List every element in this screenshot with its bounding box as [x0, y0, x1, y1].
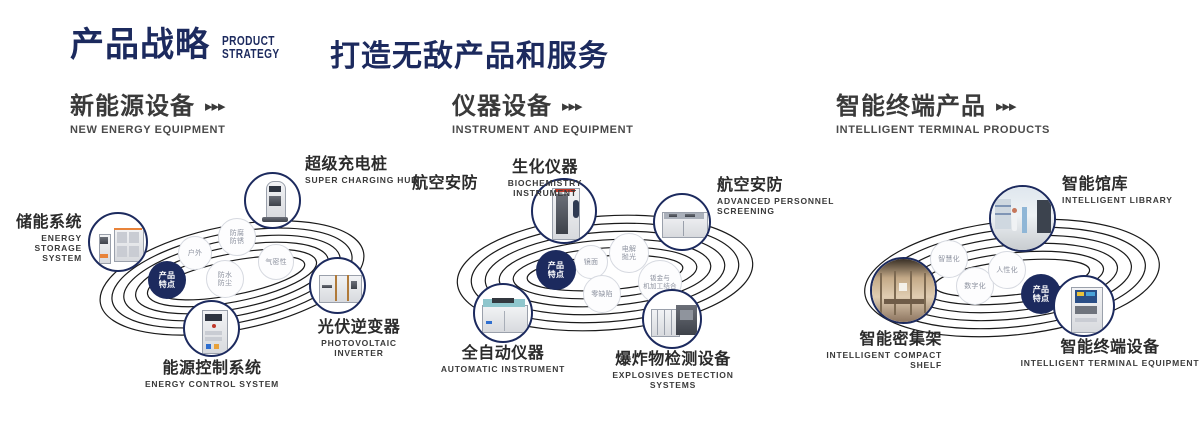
page-title: 产品战略	[70, 28, 210, 62]
feature-bubble-label: 人性化	[996, 266, 1018, 275]
node-intelligent-library[interactable]	[989, 185, 1056, 252]
label-en: INTELLIGENT TERMINAL EQUIPMENT	[1020, 358, 1200, 368]
page-title-en-line2: STRATEGY	[222, 47, 280, 60]
section-title-en: INSTRUMENT AND EQUIPMENT	[452, 124, 633, 136]
feature-bubble-1: 镜面	[574, 245, 608, 279]
label-cn: 智能终端设备	[1020, 338, 1200, 356]
cluster-instrument: 镜面 电解抛光 零缺陷 钣金与机加工结合 产品特点 生化仪器 BIOCHEMIS…	[400, 150, 820, 400]
label-cn: 爆炸物检测设备	[600, 350, 746, 368]
label-energy-control-system: 能源控制系统 ENERGY CONTROL SYSTEM	[128, 359, 296, 389]
library-room-photo-icon	[991, 187, 1054, 250]
feature-bubble-label: 数字化	[964, 282, 986, 291]
node-energy-storage[interactable]	[88, 212, 148, 272]
node-intelligent-terminal-equipment[interactable]	[1053, 275, 1115, 337]
label-cn: 智能馆库	[1062, 175, 1173, 193]
label-automatic-instrument: 全自动仪器 AUTOMATIC INSTRUMENT	[428, 344, 578, 374]
label-cn: 全自动仪器	[428, 344, 578, 362]
chevron-right-icon: ▸▸▸	[996, 98, 1016, 115]
feature-bubble-1: 户外	[178, 236, 212, 270]
label-intelligent-compact-shelf: 智能密集架 INTELLIGENT COMPACTSHELF	[800, 330, 942, 370]
feature-bubble-label: 防腐防锈	[230, 229, 244, 246]
energy-storage-cabinet-icon	[90, 214, 146, 270]
node-personnel-screening[interactable]	[653, 193, 711, 251]
detection-machine-icon	[644, 291, 700, 347]
label-intelligent-terminal-equipment: 智能终端设备 INTELLIGENT TERMINAL EQUIPMENT	[1020, 338, 1200, 368]
poster-header: 产品战略 PRODUCT STRATEGY	[70, 28, 296, 62]
core-feature-label: 产品特点	[548, 261, 564, 280]
chevron-right-icon: ▸▸▸	[562, 98, 582, 115]
self-service-kiosk-icon	[1055, 277, 1113, 335]
section-title-instrument: 仪器设备 ▸▸▸ INSTRUMENT AND EQUIPMENT	[452, 93, 633, 136]
core-feature-label: 产品特点	[159, 271, 175, 290]
control-cabinet-icon	[185, 302, 238, 355]
automatic-analyzer-icon	[475, 285, 531, 341]
core-feature-bubble: 产品特点	[536, 250, 576, 290]
section-title-intelligent-terminal: 智能终端产品 ▸▸▸ INTELLIGENT TERMINAL PRODUCTS	[836, 93, 1050, 136]
node-automatic-instrument[interactable]	[473, 283, 533, 343]
label-cn: 储能系统	[0, 213, 82, 231]
node-intelligent-compact-shelf[interactable]	[870, 257, 937, 324]
section-title-cn: 新能源设备	[70, 93, 195, 119]
poster-canvas: 产品战略 PRODUCT STRATEGY 打造无敌产品和服务 新能源设备 ▸▸…	[0, 0, 1200, 422]
compact-shelf-photo-icon	[872, 259, 935, 322]
label-cn: 生化仪器	[460, 158, 630, 176]
charging-pile-icon	[246, 174, 299, 227]
label-intelligent-library: 智能馆库 INTELLIGENT LIBRARY	[1062, 175, 1173, 205]
label-en: BIOCHEMISTRYINSTRUMENT	[460, 178, 630, 198]
section-title-cn: 智能终端产品	[836, 93, 986, 119]
label-cn: 航空安防	[412, 174, 478, 192]
section-title-new-energy: 新能源设备 ▸▸▸ NEW ENERGY EQUIPMENT	[70, 93, 225, 136]
feature-bubble-label: 电解抛光	[622, 245, 636, 262]
node-energy-control-system[interactable]	[183, 300, 240, 357]
chevron-right-icon: ▸▸▸	[205, 98, 225, 115]
node-super-charging-hub[interactable]	[244, 172, 301, 229]
label-en: EXPLOSIVES DETECTION SYSTEMS	[600, 370, 746, 390]
label-en: ENERGY STORAGESYSTEM	[0, 233, 82, 263]
label-explosives-detection: 爆炸物检测设备 EXPLOSIVES DETECTION SYSTEMS	[600, 350, 746, 390]
feature-bubble-label: 气密性	[265, 258, 287, 267]
label-biochemistry-instrument: 生化仪器 BIOCHEMISTRYINSTRUMENT	[460, 158, 630, 198]
feature-bubble-4: 气密性	[258, 244, 294, 280]
page-title-en: PRODUCT STRATEGY	[222, 31, 280, 60]
label-aviation-security: 航空安防	[412, 174, 478, 192]
section-title-cn: 仪器设备	[452, 93, 552, 119]
label-energy-storage: 储能系统 ENERGY STORAGESYSTEM	[0, 213, 82, 263]
feature-bubble-3: 人性化	[988, 251, 1026, 289]
label-cn: 能源控制系统	[128, 359, 296, 377]
feature-bubble-label: 钣金与机加工结合	[643, 274, 677, 290]
feature-bubble-label: 镜面	[584, 258, 598, 267]
feature-bubble-label: 户外	[188, 249, 202, 258]
section-title-en: INTELLIGENT TERMINAL PRODUCTS	[836, 124, 1050, 136]
page-subtitle: 打造无敌产品和服务	[330, 31, 609, 75]
feature-bubble-label: 防水防尘	[218, 271, 232, 288]
cluster-intelligent-terminal: 智慧化 数字化 人性化 产品特点 智能馆库 INTELLIGENT LIB	[800, 150, 1200, 400]
core-feature-bubble: 产品特点	[148, 261, 186, 299]
cluster-new-energy: 户外 防腐防锈 防水防尘 气密性 产品特点	[0, 150, 420, 400]
label-en: ENERGY CONTROL SYSTEM	[128, 379, 296, 389]
core-feature-label: 产品特点	[1033, 285, 1049, 304]
feature-bubble-3: 零缺陷	[583, 275, 621, 313]
label-en: INTELLIGENT LIBRARY	[1062, 195, 1173, 205]
section-title-en: NEW ENERGY EQUIPMENT	[70, 124, 225, 136]
node-explosives-detection[interactable]	[642, 289, 702, 349]
inverter-cabinet-icon	[311, 259, 364, 312]
label-cn: 智能密集架	[800, 330, 942, 348]
feature-bubble-label: 智慧化	[938, 255, 960, 264]
node-photovoltaic-inverter[interactable]	[309, 257, 366, 314]
feature-bubble-3: 防水防尘	[206, 260, 244, 298]
screening-machine-icon	[655, 195, 709, 249]
label-en: AUTOMATIC INSTRUMENT	[428, 364, 578, 374]
feature-bubble-label: 零缺陷	[591, 290, 613, 299]
label-en: INTELLIGENT COMPACTSHELF	[800, 350, 942, 370]
